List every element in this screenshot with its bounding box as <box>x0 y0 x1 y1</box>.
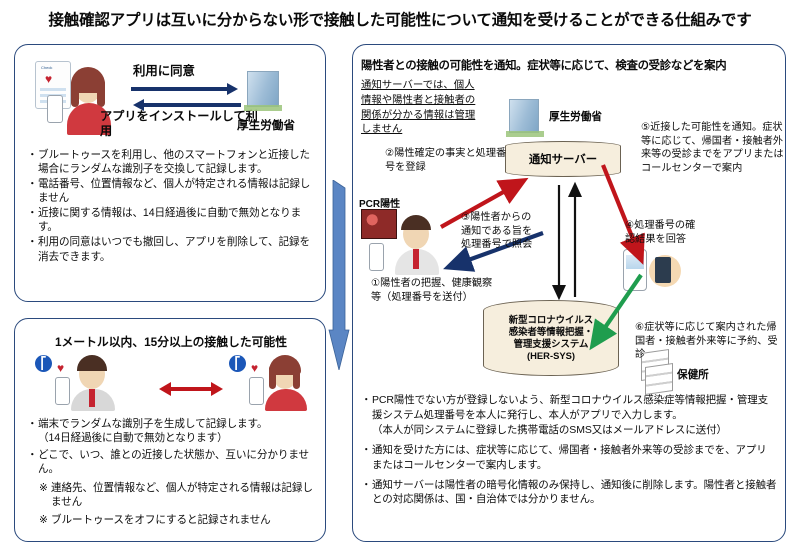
step-3-text: 陽性者からの通知である旨を処理番号で照会 <box>461 212 532 250</box>
her-sys-line3: 管理支援システム <box>514 338 589 350</box>
heart-icon: ♥ <box>57 362 70 375</box>
ministry-label: 厚生労働省 <box>549 109 602 124</box>
proximity-title: 1メートル以内、15分以上の接触した可能性 <box>15 333 327 350</box>
smartphone-icon <box>55 377 70 405</box>
smartphone-icon <box>249 377 264 405</box>
note-item: 連絡先、位置情報など、個人が特定される情報は記録しません <box>39 481 319 509</box>
list-item: どこで、いつ、誰との近接した状態か、互いに分かりません。 <box>29 448 319 476</box>
ministry-label: 厚生労働省 <box>237 117 295 133</box>
step-4-text: 処理番号の確認結果を回答 <box>625 220 695 245</box>
avatar-hair-side <box>269 365 276 389</box>
necktie-icon <box>89 389 95 407</box>
note-item: ブルートゥースをオフにすると記録されません <box>39 513 319 527</box>
user-phone-notification-illustration <box>619 245 695 301</box>
list-item-text: PCR陽性でない方が登録しないよう、新型コロナウイルス感染症等情報把握・管理支援… <box>372 394 768 421</box>
right-bullet-list: PCR陽性でない方が登録しないよう、新型コロナウイルス感染症等情報把握・管理支援… <box>363 393 777 508</box>
step-2-label: ②陽性確定の事実と処理番号を登録 <box>385 147 507 174</box>
list-item: 通知を受けた方には、症状等に応じて、帰国者・接触者外来等の受診までを、アプリまた… <box>363 443 777 473</box>
list-item-subtext: （14日経過後に自動で無効となります） <box>38 431 319 445</box>
step-2-number: ② <box>385 148 394 159</box>
list-item: 近接に関する情報は、14日経過後に自動で無効となります。 <box>29 206 317 234</box>
avatar-hair-side2 <box>97 79 105 107</box>
app-screen-icon <box>623 249 647 291</box>
consent-bullet-list: ブルートゥースを利用し、他のスマートフォンと近接した場合にランダムな識別子を交換… <box>29 148 317 265</box>
list-item: 電話番号、位置情報など、個人が特定される情報は記録しません <box>29 177 317 205</box>
step-6-number: ⑥ <box>635 322 644 333</box>
left-panel-consent: ♥ Check 利用に同意 アプリをインストールして利用 厚生労働省 ブルートゥ… <box>14 44 326 302</box>
right-panel-notification-flow: 陽性者との接触の可能性を通知。症状等に応じて、検査の受診などを案内 通知サーバー… <box>352 44 786 542</box>
phone-in-hand-icon <box>655 257 671 283</box>
notification-server-node: 通知サーバー <box>505 141 621 177</box>
list-item: 利用の同意はいつでも撤回し、アプリを削除して、記録を消去できます。 <box>29 235 317 263</box>
right-panel-title: 陽性者との接触の可能性を通知。症状等に応じて、検査の受診などを案内 <box>361 57 781 73</box>
pcr-positive-person-illustration <box>361 207 461 277</box>
step-6-text: 症状等に応じて案内された帰国者・接触者外来等に予約、受診 <box>635 322 778 360</box>
step-4-number: ④ <box>625 220 634 231</box>
step-5-number: ⑤ <box>641 122 650 133</box>
server-privacy-note: 通知サーバーでは、個人情報や陽性者と接触者の関係が分かる情報は管理しません <box>361 79 483 138</box>
step-1-number: ① <box>371 278 380 289</box>
health-center-label: 保健所 <box>677 367 709 382</box>
bluetooth-icon: ⎡ <box>35 355 52 372</box>
necktie-icon <box>413 249 419 269</box>
list-item-subtext: （本人が同システムに登録した携帯電話のSMS又はメールアドレスに送付） <box>372 423 777 438</box>
bluetooth-icon: ⎡ <box>229 355 246 372</box>
her-sys-line1: 新型コロナウイルス <box>509 314 593 326</box>
list-item: ブルートゥースを利用し、他のスマートフォンと近接した場合にランダムな識別子を交換… <box>29 148 317 176</box>
step-6-label: ⑥症状等に応じて案内された帰国者・接触者外来等に予約、受診 <box>635 321 781 362</box>
her-sys-node: 新型コロナウイルス 感染者等情報把握・ 管理支援システム (HER-SYS) <box>483 300 619 376</box>
infographic-page: 接触確認アプリは互いに分からない形で接触した可能性について通知を受けることができ… <box>0 0 800 552</box>
heart-icon: ♥ <box>251 362 264 375</box>
install-label: アプリをインストールして利用 <box>100 109 260 140</box>
smartphone-icon <box>369 243 384 271</box>
ministry-building-icon <box>247 71 279 107</box>
step-4-label: ④処理番号の確認結果を回答 <box>625 219 697 246</box>
smartphone-icon <box>47 95 63 123</box>
avatar-hair-side <box>71 79 79 107</box>
person-b-illustration: ⎡ ♥ <box>229 353 341 409</box>
proximity-bullet-list: 端末でランダムな識別子を生成して記録します。 （14日経過後に自動で無効となりま… <box>29 417 319 529</box>
list-item: 端末でランダムな識別子を生成して記録します。 （14日経過後に自動で無効となりま… <box>29 417 319 445</box>
step-1-label: ①陽性者の把握、健康観察等（処理番号を送付） <box>371 277 501 304</box>
proximity-arrow <box>159 381 223 397</box>
health-center-icon-2 <box>645 363 673 395</box>
page-title: 接触確認アプリは互いに分からない形で接触した可能性について通知を受けることができ… <box>0 8 800 30</box>
step-1-text: 陽性者の把握、健康観察等（処理番号を送付） <box>371 278 492 303</box>
avatar-hair-side2 <box>293 365 300 389</box>
step-5-text: 近接した可能性を通知。症状等に応じて、帰国者・接触者外来等の受診までをアプリまた… <box>641 122 784 174</box>
step-3-label: ③陽性者からの通知である旨を処理番号で照会 <box>461 211 541 252</box>
avatar-hair <box>401 215 431 230</box>
left-panel-proximity: 1メートル以内、15分以上の接触した可能性 ⎡ ♥ ⎡ ♥ <box>14 318 326 542</box>
avatar-body <box>265 389 307 411</box>
her-sys-code: (HER-SYS) <box>527 350 575 362</box>
list-item-text: 端末でランダムな識別子を生成して記録します。 <box>38 418 267 430</box>
connector-arrow-icon <box>328 180 350 370</box>
step-2-text: 陽性確定の事実と処理番号を登録 <box>385 148 506 173</box>
ministry-building-icon <box>509 99 539 133</box>
step-3-number: ③ <box>461 212 470 223</box>
person-a-illustration: ⎡ ♥ <box>35 353 147 409</box>
step-5-label: ⑤近接した可能性を通知。症状等に応じて、帰国者・接触者外来等の受診までをアプリま… <box>641 121 787 176</box>
avatar-hair <box>77 355 107 371</box>
list-item: 通知サーバーは陽性者の暗号化情報のみ保持し、通知後に削除します。陽性者と接触者と… <box>363 478 777 508</box>
list-item: PCR陽性でない方が登録しないよう、新型コロナウイルス感染症等情報把握・管理支援… <box>363 393 777 438</box>
her-sys-line2: 感染者等情報把握・ <box>509 326 593 338</box>
consent-label: 利用に同意 <box>133 61 195 79</box>
virus-image-icon <box>361 209 397 239</box>
